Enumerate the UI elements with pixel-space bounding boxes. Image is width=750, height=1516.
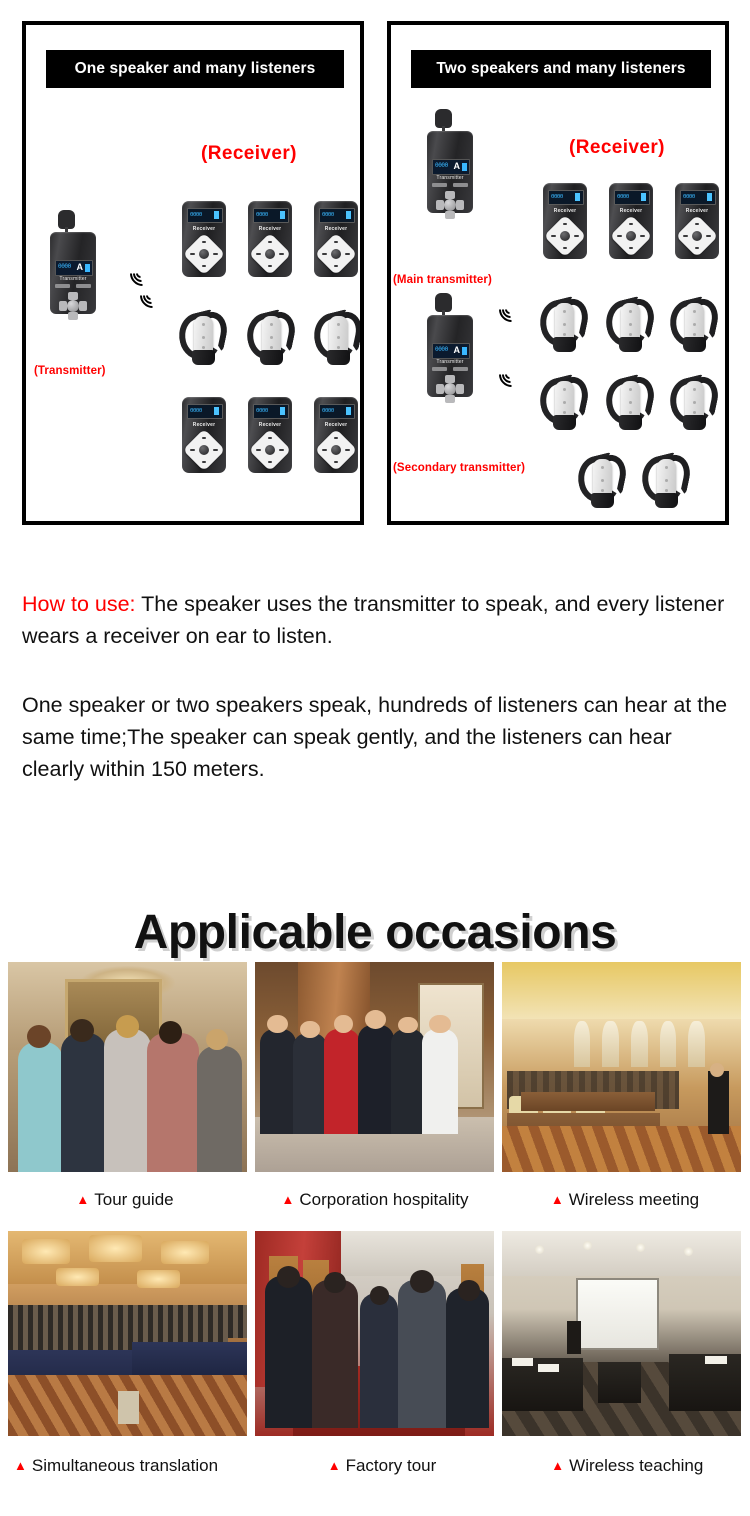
- receiver-device: 0000 Receiver: [182, 397, 226, 473]
- receiver-name-label: Receiver: [248, 226, 292, 232]
- transmitter-name-label: Transmitter: [427, 175, 473, 181]
- occasion-photo-tour-guide: [8, 962, 247, 1172]
- occasion-captions-row-1: ▲Tour guide ▲Corporation hospitality ▲Wi…: [0, 1190, 750, 1210]
- transmitter-name-label: Transmitter: [427, 359, 473, 365]
- receiver-name-label: Receiver: [182, 226, 226, 232]
- transmitter-body: 0000 A Transmitter: [427, 315, 473, 397]
- earpiece-device: [605, 297, 657, 353]
- triangle-bullet-icon: ▲: [76, 1192, 89, 1207]
- label-secondary-transmitter: (Secondary transmitter): [393, 462, 525, 474]
- occasion-gallery-row-1: [8, 962, 742, 1172]
- caption-text: Factory tour: [346, 1456, 437, 1475]
- receiver-name-label: Receiver: [543, 208, 587, 214]
- label-receiver-right: (Receiver): [569, 137, 665, 159]
- receiver-device: 0000 Receiver: [182, 201, 226, 277]
- triangle-bullet-icon: ▲: [328, 1458, 341, 1473]
- occasion-photo-wireless-meeting: [502, 962, 741, 1172]
- triangle-bullet-icon: ▲: [281, 1192, 294, 1207]
- receiver-device: 0000 Receiver: [609, 183, 653, 259]
- power-button-icon: [444, 383, 456, 395]
- transmitter-lcd-screen: 0000 A: [432, 343, 470, 359]
- triangle-bullet-icon: ▲: [551, 1458, 564, 1473]
- caption-corporation-hospitality: ▲Corporation hospitality: [250, 1190, 500, 1210]
- caption-wireless-meeting: ▲Wireless meeting: [500, 1190, 750, 1210]
- receiver-name-label: Receiver: [314, 422, 358, 428]
- caption-text: Wireless teaching: [569, 1456, 703, 1475]
- transmitter-dpad: [436, 191, 464, 219]
- receiver-device: 0000 Receiver: [248, 201, 292, 277]
- transmitter-name-label: Transmitter: [50, 276, 96, 282]
- transmitter-button-row: [55, 284, 91, 289]
- earpiece-device: [539, 375, 591, 431]
- receiver-device: 0000 Receiver: [314, 201, 358, 277]
- diagram-panel-one-speaker: One speaker and many listeners (Receiver…: [22, 21, 364, 525]
- page-title: Applicable occasions: [0, 905, 750, 960]
- occasion-photo-corporation-hospitality: [255, 962, 494, 1172]
- transmitter-dpad: [436, 375, 464, 403]
- earpiece-device: [539, 297, 591, 353]
- receiver-name-label: Receiver: [609, 208, 653, 214]
- triangle-bullet-icon: ▲: [14, 1458, 27, 1473]
- occasion-photo-factory-tour: [255, 1231, 494, 1436]
- receiver-device: 0000 Receiver: [314, 397, 358, 473]
- label-main-transmitter: (Main transmitter): [393, 274, 492, 286]
- panel-title-left: One speaker and many listeners: [46, 50, 344, 88]
- transmitter-lcd-screen: 0000 A: [432, 159, 470, 175]
- triangle-bullet-icon: ▲: [551, 1192, 564, 1207]
- caption-simultaneous-translation: ▲Simultaneous translation: [0, 1456, 259, 1476]
- earpiece-device: [605, 375, 657, 431]
- receiver-name-label: Receiver: [248, 422, 292, 428]
- battery-icon: [85, 264, 90, 272]
- caption-wireless-teaching: ▲Wireless teaching: [505, 1456, 750, 1476]
- receiver-name-label: Receiver: [675, 208, 719, 214]
- lcd-digits: 0000: [58, 263, 71, 270]
- how-to-use-paragraph: How to use: The speaker uses the transmi…: [22, 588, 734, 652]
- capability-paragraph: One speaker or two speakers speak, hundr…: [22, 689, 734, 785]
- receiver-device: 0000 Receiver: [248, 397, 292, 473]
- usage-diagram-area: One speaker and many listeners (Receiver…: [0, 0, 750, 545]
- main-transmitter-device: 0000 A Transmitter: [427, 109, 473, 213]
- earpiece-device: [246, 310, 298, 366]
- earpiece-device: [669, 375, 721, 431]
- receiver-name-label: Receiver: [314, 226, 358, 232]
- panel-title-right: Two speakers and many listeners: [411, 50, 711, 88]
- earpiece-device: [577, 453, 629, 509]
- earpiece-device: [313, 310, 364, 366]
- earpiece-device: [178, 310, 230, 366]
- transmitter-device: 0000 A Transmitter: [50, 210, 96, 314]
- caption-factory-tour: ▲Factory tour: [259, 1456, 504, 1476]
- power-button-icon: [444, 199, 456, 211]
- occasion-photo-simultaneous-translation: [8, 1231, 247, 1436]
- receiver-name-label: Receiver: [182, 422, 226, 428]
- receiver-device: 0000 Receiver: [543, 183, 587, 259]
- power-button-icon: [67, 300, 79, 312]
- occasion-photo-wireless-teaching: [502, 1231, 741, 1436]
- earpiece-device: [641, 453, 693, 509]
- caption-tour-guide: ▲Tour guide: [0, 1190, 250, 1210]
- transmitter-lcd-screen: 0000 A: [55, 260, 93, 276]
- label-receiver-left: (Receiver): [201, 143, 297, 165]
- caption-text: Wireless meeting: [569, 1190, 699, 1209]
- secondary-transmitter-device: 0000 A Transmitter: [427, 293, 473, 397]
- diagram-panel-two-speakers: Two speakers and many listeners (Receive…: [387, 21, 729, 525]
- lcd-channel: A: [77, 262, 84, 273]
- how-to-use-label: How to use:: [22, 592, 136, 616]
- transmitter-body: 0000 A Transmitter: [427, 131, 473, 213]
- transmitter-body: 0000 A Transmitter: [50, 232, 96, 314]
- transmitter-dpad: [59, 292, 87, 320]
- occasion-gallery-row-2: [8, 1231, 742, 1436]
- earpiece-device: [669, 297, 721, 353]
- caption-text: Tour guide: [94, 1190, 173, 1209]
- receiver-device: 0000 Receiver: [675, 183, 719, 259]
- label-transmitter-left: (Transmitter): [34, 365, 106, 377]
- caption-text: Simultaneous translation: [32, 1456, 218, 1475]
- caption-text: Corporation hospitality: [299, 1190, 468, 1209]
- occasion-captions-row-2: ▲Simultaneous translation ▲Factory tour …: [0, 1456, 750, 1476]
